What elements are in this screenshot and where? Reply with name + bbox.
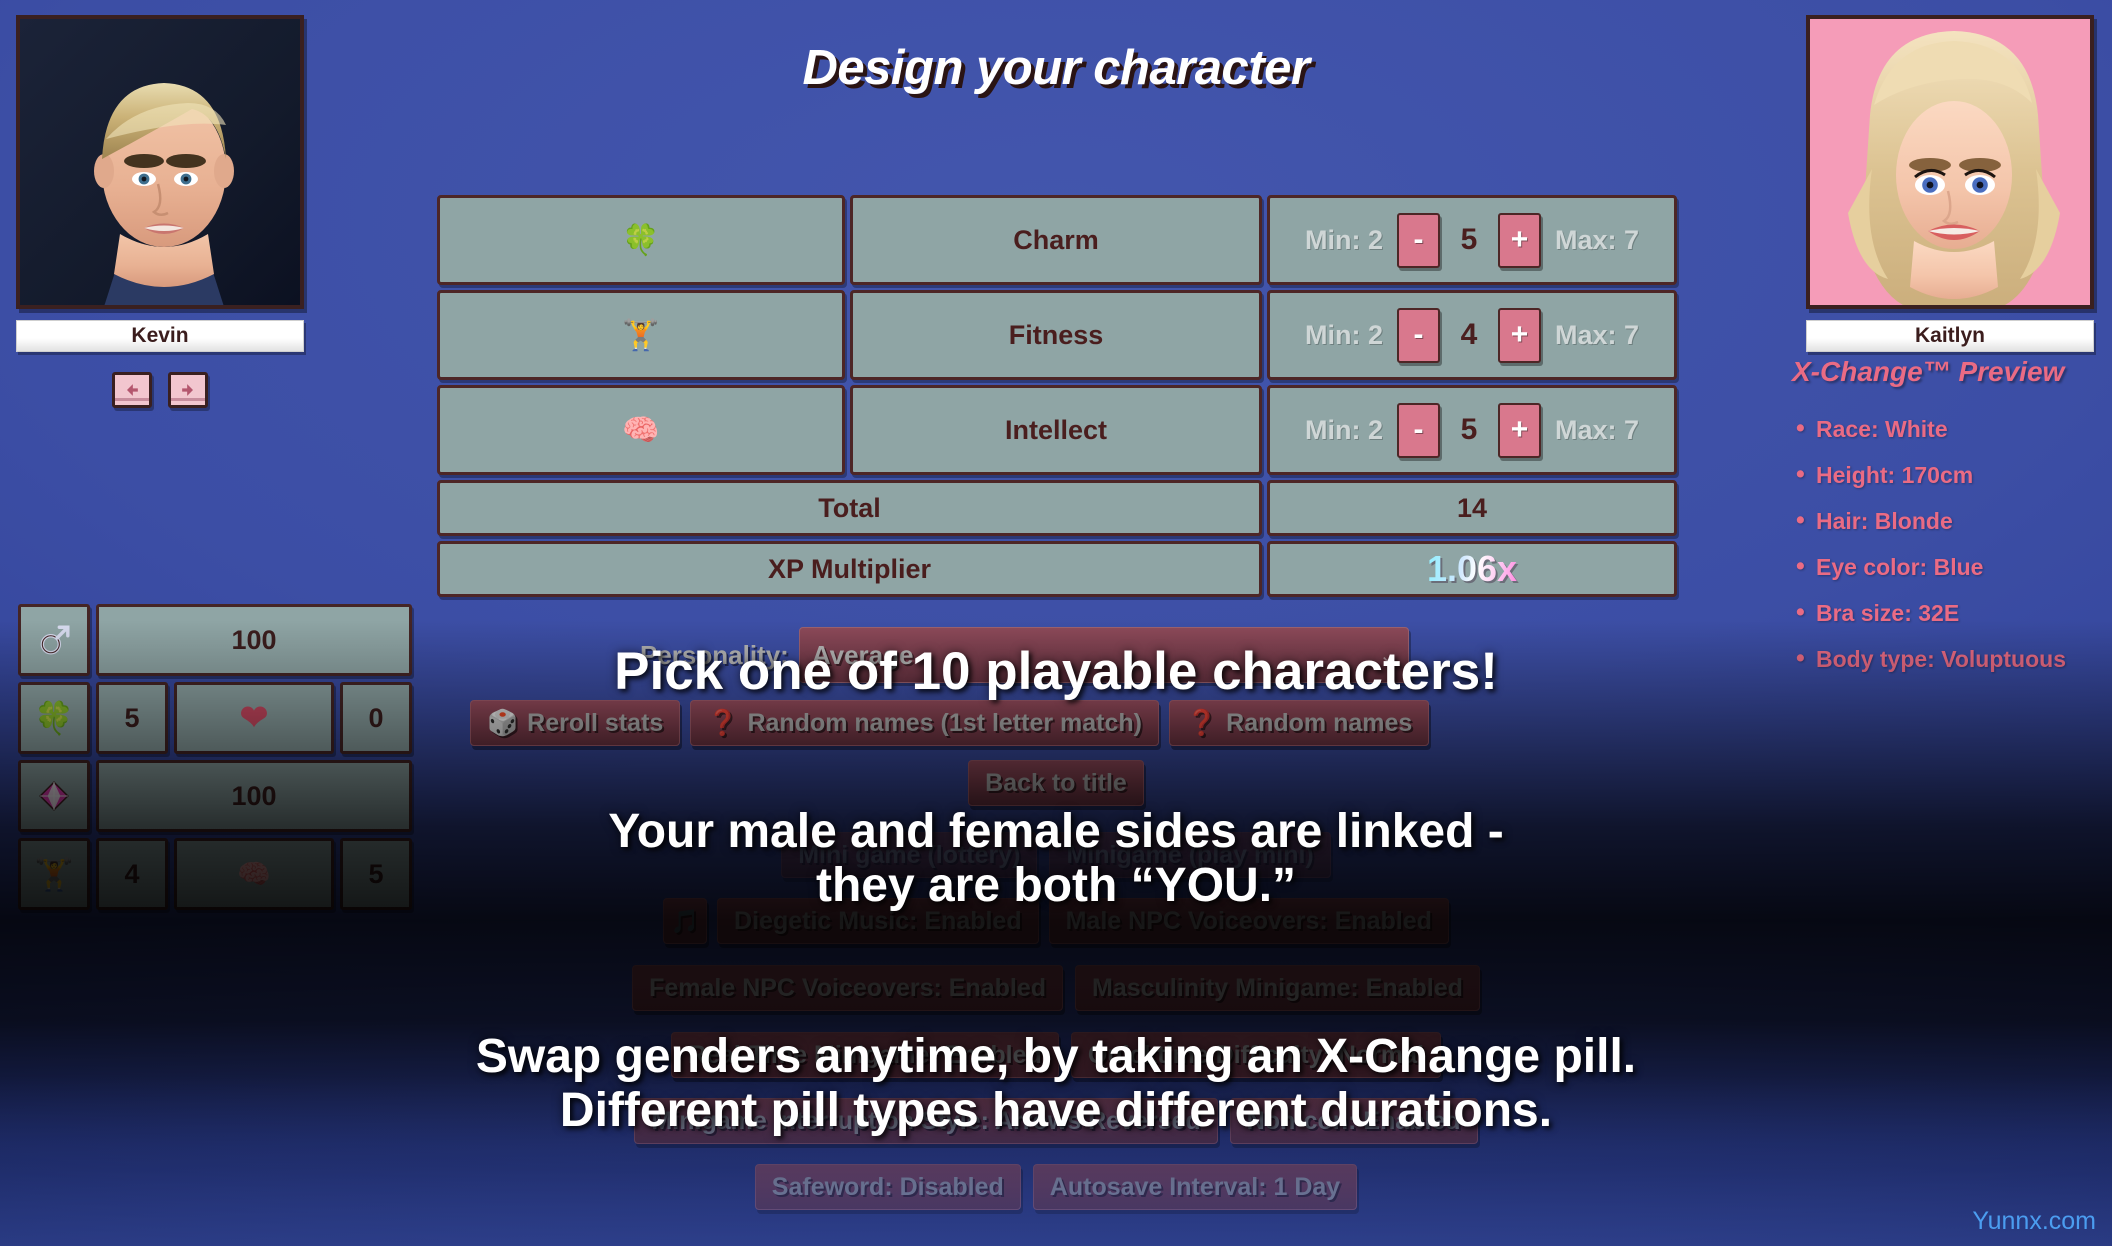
charm-increase-button[interactable]: +	[1498, 213, 1541, 268]
male-character-portrait[interactable]	[16, 15, 304, 309]
safeword-button[interactable]: Safeword: Disabled	[755, 1164, 1021, 1210]
stat-row-fitness: 🏋 Fitness Min: 2 - 4 + Max: 7	[437, 290, 1677, 380]
back-to-title-button[interactable]: Back to title	[968, 760, 1144, 806]
random-names-button[interactable]: ❓ Random names	[1169, 700, 1429, 746]
minus-icon: -	[1413, 415, 1423, 445]
stat-row-charm: 🍀 Charm Min: 2 - 5 + Max: 7	[437, 195, 1677, 285]
plus-icon: +	[1511, 320, 1529, 350]
back-to-title-row: Back to title	[0, 760, 2112, 806]
charm-max-label: Max: 7	[1555, 225, 1639, 256]
intellect-value: 5	[1454, 413, 1484, 447]
female-name-value: Kaitlyn	[1915, 324, 1985, 348]
fitness-max-label: Max: 7	[1555, 320, 1639, 351]
female-name-field[interactable]: Kaitlyn	[1806, 320, 2094, 352]
intellect-decrease-button[interactable]: -	[1397, 403, 1440, 458]
intellect-icon-cell: 🧠	[437, 385, 845, 475]
xchange-preview-title: X-Change™ Preview	[1792, 356, 2112, 388]
total-label: Total	[437, 480, 1262, 536]
intellect-min-label: Min: 2	[1305, 415, 1383, 446]
action-button-row: 🎲 Reroll stats ❓ Random names (1st lette…	[470, 700, 1429, 746]
tutorial-text-line1: Pick one of 10 playable characters!	[0, 642, 2112, 701]
total-value: 14	[1267, 480, 1677, 536]
fitness-decrease-button[interactable]: -	[1397, 308, 1440, 363]
random-names-letter-match-button[interactable]: ❓ Random names (1st letter match)	[690, 700, 1159, 746]
settings-row-voiceovers: Female NPC Voiceovers: Enabled Masculini…	[0, 965, 2112, 1011]
stat-row-total: Total 14	[437, 480, 1677, 536]
fitness-value: 4	[1454, 318, 1484, 352]
question-mark-icon: ❓	[1186, 709, 1217, 738]
intellect-increase-button[interactable]: +	[1498, 403, 1541, 458]
list-item: Eye color: Blue	[1792, 554, 2112, 581]
brain-icon: 🧠	[622, 413, 659, 448]
autosave-interval-button[interactable]: Autosave Interval: 1 Day	[1033, 1164, 1357, 1210]
reroll-stats-button[interactable]: 🎲 Reroll stats	[470, 700, 680, 746]
back-to-title-label: Back to title	[985, 769, 1127, 798]
list-item: Bra size: 32E	[1792, 600, 2112, 627]
stat-table: 🍀 Charm Min: 2 - 5 + Max: 7 🏋 Fitness Mi…	[437, 195, 1677, 597]
fitness-label: Fitness	[850, 290, 1262, 380]
fitness-min-label: Min: 2	[1305, 320, 1383, 351]
fitness-increase-button[interactable]: +	[1498, 308, 1541, 363]
list-item: Hair: Blonde	[1792, 508, 2112, 535]
tutorial-text-line3: Swap genders anytime, by taking an X-Cha…	[0, 1030, 2112, 1138]
xchange-preview-list: Race: White Height: 170cm Hair: Blonde E…	[1792, 416, 2112, 673]
charm-decrease-button[interactable]: -	[1397, 213, 1440, 268]
character-nav-arrows	[16, 372, 304, 408]
fitness-icon-cell: 🏋	[437, 290, 845, 380]
masculinity-minigame-button[interactable]: Masculinity Minigame: Enabled	[1075, 965, 1480, 1011]
plus-icon: +	[1511, 225, 1529, 255]
dumbbell-icon: 🏋	[622, 318, 659, 353]
reroll-stats-label: Reroll stats	[527, 709, 663, 738]
female-npc-voiceovers-button[interactable]: Female NPC Voiceovers: Enabled	[632, 965, 1063, 1011]
minus-icon: -	[1413, 225, 1423, 255]
intellect-label: Intellect	[850, 385, 1262, 475]
minus-icon: -	[1413, 320, 1423, 350]
tutorial-text-line2: Your male and female sides are linked - …	[0, 805, 2112, 913]
xp-multiplier-label: XP Multiplier	[437, 541, 1262, 597]
charm-controls: Min: 2 - 5 + Max: 7	[1267, 195, 1677, 285]
fitness-controls: Min: 2 - 4 + Max: 7	[1267, 290, 1677, 380]
male-name-field[interactable]: Kevin	[16, 320, 304, 352]
female-npc-voiceovers-label: Female NPC Voiceovers: Enabled	[649, 974, 1046, 1003]
male-name-value: Kevin	[131, 324, 188, 348]
arrow-left-icon	[122, 380, 142, 400]
random-names-label: Random names	[1226, 709, 1412, 738]
charm-label: Charm	[850, 195, 1262, 285]
masculinity-minigame-label: Masculinity Minigame: Enabled	[1092, 974, 1463, 1003]
prev-character-button[interactable]	[112, 372, 152, 408]
arrow-right-icon	[178, 380, 198, 400]
list-item: Race: White	[1792, 416, 2112, 443]
clover-icon: 🍀	[622, 223, 659, 258]
app-stage: Design your character	[0, 0, 2112, 1246]
intellect-max-label: Max: 7	[1555, 415, 1639, 446]
stat-row-xp: XP Multiplier 1.06x	[437, 541, 1677, 597]
charm-value: 5	[1454, 223, 1484, 257]
charm-icon-cell: 🍀	[437, 195, 845, 285]
female-character-portrait[interactable]	[1806, 15, 2094, 309]
settings-row-safeword: Safeword: Disabled Autosave Interval: 1 …	[0, 1164, 2112, 1210]
safeword-label: Safeword: Disabled	[772, 1173, 1004, 1202]
question-mark-icon: ❓	[707, 709, 738, 738]
dice-icon: 🎲	[487, 709, 518, 738]
next-character-button[interactable]	[168, 372, 208, 408]
intellect-controls: Min: 2 - 5 + Max: 7	[1267, 385, 1677, 475]
autosave-interval-label: Autosave Interval: 1 Day	[1050, 1173, 1340, 1202]
xp-multiplier-cell: 1.06x	[1267, 541, 1677, 597]
male-portrait-image	[20, 19, 304, 309]
site-watermark: Yunnx.com	[1972, 1207, 2096, 1236]
charm-min-label: Min: 2	[1305, 225, 1383, 256]
plus-icon: +	[1511, 415, 1529, 445]
page-title: Design your character	[0, 40, 2112, 96]
xp-multiplier-value: 1.06x	[1427, 548, 1517, 590]
female-portrait-image	[1810, 19, 2094, 309]
random-names-letter-match-label: Random names (1st letter match)	[747, 709, 1142, 738]
list-item: Height: 170cm	[1792, 462, 2112, 489]
stat-row-intellect: 🧠 Intellect Min: 2 - 5 + Max: 7	[437, 385, 1677, 475]
